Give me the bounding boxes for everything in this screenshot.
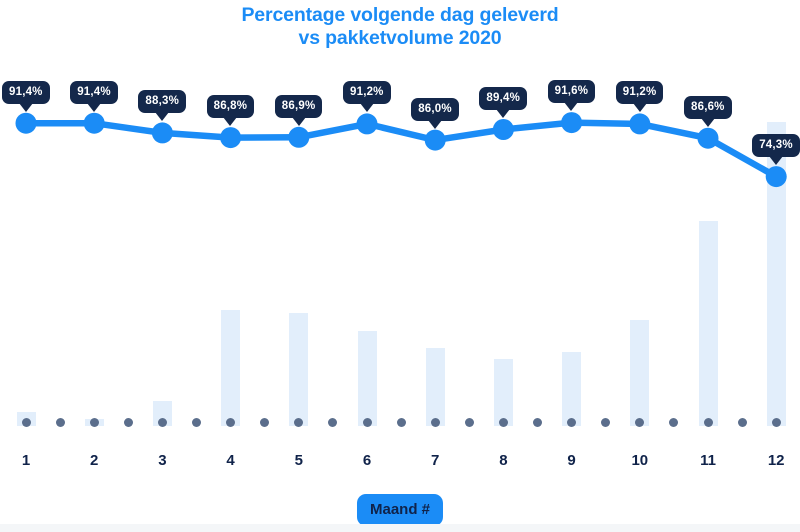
data-point-marker (629, 113, 650, 134)
data-label-callout: 86,8% (207, 95, 255, 118)
data-label-callout: 91,2% (343, 81, 391, 104)
callout-tail (633, 103, 647, 112)
data-label-callout: 91,2% (616, 81, 664, 104)
data-point-marker (766, 166, 787, 187)
x-axis-tick-label: 9 (552, 452, 592, 469)
x-axis-tick-label: 2 (74, 452, 114, 469)
callout-tail (223, 117, 237, 126)
data-point-marker (561, 112, 582, 133)
x-axis-tick-label: 4 (211, 452, 251, 469)
data-point-marker (425, 130, 446, 151)
x-axis-tick-label: 5 (279, 452, 319, 469)
data-label-callout: 91,4% (2, 81, 50, 104)
data-label-callout: 86,0% (411, 98, 459, 121)
callout-tail (360, 103, 374, 112)
callout-tail (769, 156, 783, 165)
trend-line (26, 123, 776, 177)
x-axis-tick-label: 7 (415, 452, 455, 469)
data-label-callout: 86,9% (275, 95, 323, 118)
data-point-marker (493, 119, 514, 140)
data-point-marker (152, 122, 173, 143)
line-series-layer (0, 0, 800, 532)
callout-tail (87, 103, 101, 112)
data-point-marker (16, 113, 37, 134)
data-point-marker (84, 113, 105, 134)
x-axis-tick-label: 1 (6, 452, 46, 469)
data-point-marker (288, 127, 309, 148)
callout-tail (19, 103, 33, 112)
chart-canvas: Percentage volgende dag geleverd vs pakk… (0, 0, 800, 532)
x-axis-tick-label: 12 (756, 452, 796, 469)
x-axis-tick-label: 8 (483, 452, 523, 469)
callout-tail (292, 117, 306, 126)
data-label-callout: 74,3% (752, 134, 800, 157)
data-point-marker (220, 127, 241, 148)
trend-markers (16, 112, 787, 187)
data-label-callout: 91,6% (548, 80, 596, 103)
bottom-divider (0, 524, 800, 532)
callout-tail (428, 120, 442, 129)
callout-tail (701, 118, 715, 127)
data-label-callout: 86,6% (684, 96, 732, 119)
data-point-marker (698, 128, 719, 149)
callout-tail (496, 109, 510, 118)
plot-area: 91,4%91,4%88,3%86,8%86,9%91,2%86,0%89,4%… (0, 0, 800, 532)
x-axis-tick-label: 10 (620, 452, 660, 469)
callout-tail (564, 102, 578, 111)
x-axis-tick-label: 11 (688, 452, 728, 469)
callout-tail (155, 112, 169, 121)
x-axis-title-pill: Maand # (357, 494, 443, 526)
x-axis-tick-label: 6 (347, 452, 387, 469)
data-label-callout: 88,3% (138, 90, 186, 113)
x-axis-tick-label: 3 (142, 452, 182, 469)
data-point-marker (357, 113, 378, 134)
data-label-callout: 89,4% (479, 87, 527, 110)
data-label-callout: 91,4% (70, 81, 118, 104)
